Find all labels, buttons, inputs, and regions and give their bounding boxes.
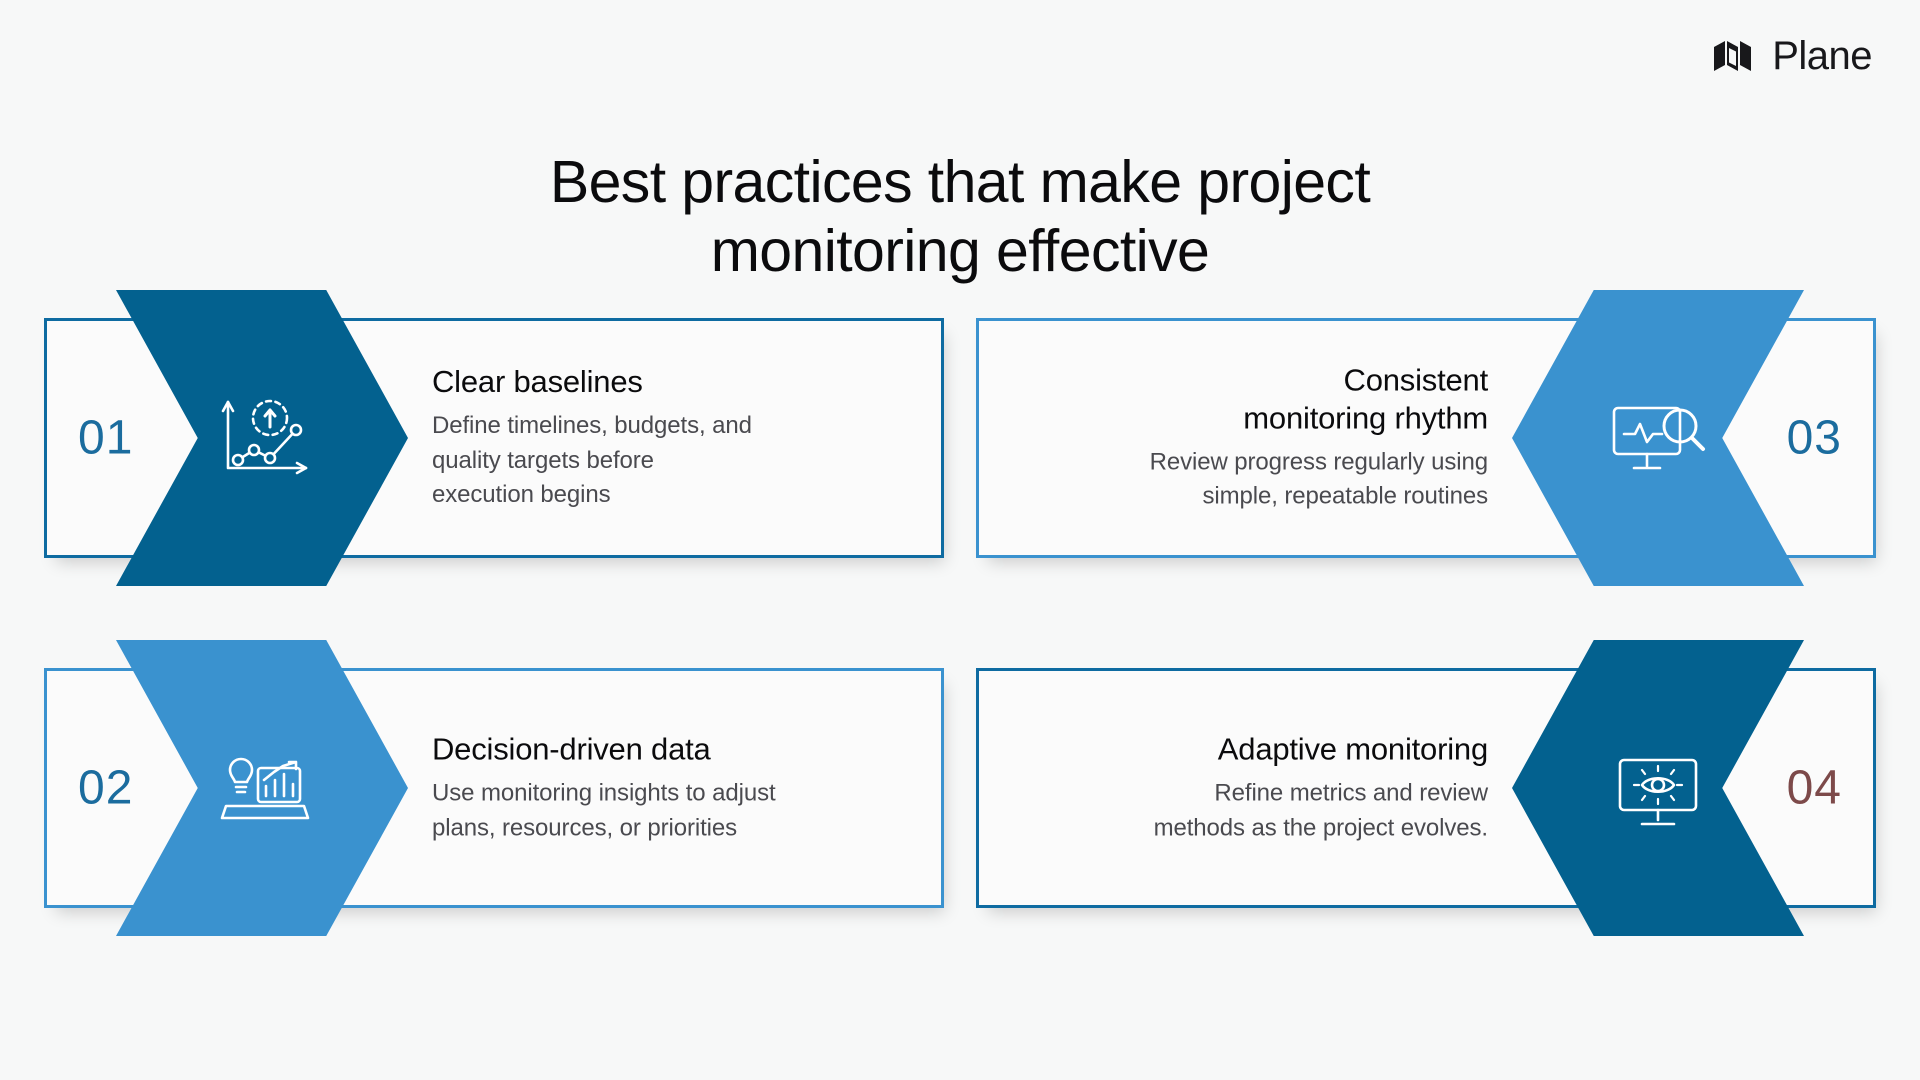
card-desc-02: Use monitoring insights to adjust plans,…: [432, 776, 832, 846]
card-title-line-1: Consistent: [1344, 362, 1488, 397]
monitor-eye-icon: [1604, 740, 1712, 836]
laptop-idea-bar-chart-icon: [208, 740, 316, 836]
desc-line-1: Review progress regularly using: [1150, 448, 1488, 475]
growth-chart-target-icon: [208, 390, 316, 486]
practice-card-02[interactable]: 02 Decision-driven data Use monitoring i…: [44, 668, 944, 908]
page-title-line-1: Best practices that make project: [550, 149, 1370, 215]
brand-name: Plane: [1772, 36, 1872, 76]
card-title-04: Adaptive monitoring: [1088, 730, 1488, 768]
practice-card-04[interactable]: 04 Adaptive monitoring Refine metrics an…: [976, 668, 1876, 908]
card-desc-01: Define timelines, budgets, and quality t…: [432, 409, 832, 513]
card-text-block: Decision-driven data Use monitoring insi…: [432, 730, 832, 845]
card-desc-03: Review progress regularly using simple, …: [1088, 445, 1488, 515]
desc-line-2: plans, resources, or priorities: [432, 814, 737, 841]
desc-line-2: simple, repeatable routines: [1203, 483, 1488, 510]
page-title-line-2: monitoring effective: [711, 218, 1210, 284]
desc-line-1: Refine metrics and review: [1214, 779, 1488, 806]
monitor-pulse-magnifier-icon: [1604, 390, 1712, 486]
card-number-04: 04: [1787, 761, 1842, 816]
card-title-line-2: monitoring rhythm: [1243, 400, 1488, 435]
desc-line-3: execution begins: [432, 481, 611, 508]
card-desc-04: Refine metrics and review methods as the…: [1088, 776, 1488, 846]
practice-card-01[interactable]: 01 Clear baselines Def: [44, 318, 944, 558]
plane-logo-icon: [1712, 39, 1758, 73]
desc-line-1: Define timelines, budgets, and: [432, 412, 752, 439]
best-practices-grid: 01 Clear baselines Def: [44, 318, 1876, 908]
card-number-02: 02: [78, 761, 133, 816]
card-title-02: Decision-driven data: [432, 730, 832, 768]
card-text-block: Adaptive monitoring Refine metrics and r…: [1088, 730, 1488, 845]
card-number-01: 01: [78, 411, 133, 466]
card-title-03: Consistent monitoring rhythm: [1088, 361, 1488, 437]
card-text-block: Consistent monitoring rhythm Review prog…: [1088, 361, 1488, 514]
desc-line-2: quality targets before: [432, 447, 654, 474]
card-title-01: Clear baselines: [432, 363, 832, 401]
card-text-block: Clear baselines Define timelines, budget…: [432, 363, 832, 513]
practice-card-03[interactable]: 03 Consistent monitoring rhythm Review p…: [976, 318, 1876, 558]
brand-logo: Plane: [1712, 36, 1872, 76]
card-number-03: 03: [1787, 411, 1842, 466]
desc-line-2: methods as the project evolves.: [1154, 814, 1488, 841]
page-title: Best practices that make project monitor…: [360, 148, 1560, 286]
desc-line-1: Use monitoring insights to adjust: [432, 779, 776, 806]
